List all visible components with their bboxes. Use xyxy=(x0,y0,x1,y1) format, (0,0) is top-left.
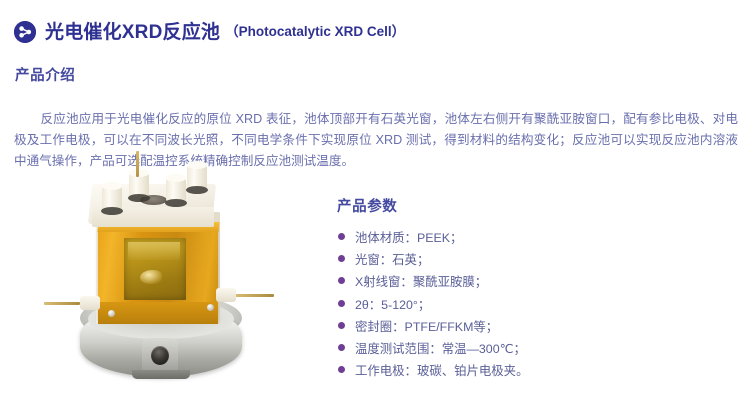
page-title-en: （Photocatalytic XRD Cell） xyxy=(225,25,405,39)
bullet-icon xyxy=(338,344,345,351)
electrode-rod-left xyxy=(44,302,80,305)
list-item-label: 密封圈：PTFE/FFKM等； xyxy=(355,317,498,335)
electrode-post-3 xyxy=(166,178,186,202)
electrode-rod-right xyxy=(234,294,274,297)
frame-screw-right xyxy=(207,304,214,311)
page-title-cn: 光电催化XRD反应池 xyxy=(45,23,220,42)
list-item-label: 池体材质：PEEK； xyxy=(355,228,462,246)
list-item-label: X射线窗：聚酰亚胺膜； xyxy=(355,272,487,290)
bullet-icon xyxy=(338,322,345,329)
list-item: 工作电极：玻碳、铂片电极夹。 xyxy=(338,361,528,383)
list-item-label: 光窗：石英； xyxy=(355,250,429,268)
list-item-label: 工作电极：玻碳、铂片电极夹。 xyxy=(355,361,528,379)
bullet-icon xyxy=(338,233,345,240)
electrode-post-1 xyxy=(102,186,122,210)
electrode-post-2 xyxy=(129,173,149,197)
amber-lower-band xyxy=(98,302,218,324)
port-fitting-left xyxy=(80,296,100,310)
window-highlight xyxy=(128,242,180,260)
parameters-section-heading: 产品参数 xyxy=(337,195,397,216)
parameters-list: 池体材质：PEEK； 光窗：石英； X射线窗：聚酰亚胺膜； 2θ：5-120°；… xyxy=(338,228,528,383)
window-specular xyxy=(140,270,162,284)
frame-screw-left xyxy=(108,310,115,317)
product-image xyxy=(36,162,286,407)
bullet-icon xyxy=(338,366,345,373)
list-item: X射线窗：聚酰亚胺膜； xyxy=(338,272,528,294)
base-foot xyxy=(132,370,190,379)
list-item: 密封圈：PTFE/FFKM等； xyxy=(338,317,528,339)
bullet-icon xyxy=(338,277,345,284)
bullet-icon xyxy=(338,300,345,307)
product-photo-composite xyxy=(36,162,286,407)
intro-section-heading: 产品介绍 xyxy=(15,64,75,85)
list-item: 光窗：石英； xyxy=(338,250,528,272)
gas-needle xyxy=(136,151,139,177)
page-title-row: 光电催化XRD反应池 （Photocatalytic XRD Cell） xyxy=(14,17,405,47)
list-item: 温度测试范围：常温—300℃； xyxy=(338,339,528,361)
list-item: 池体材质：PEEK； xyxy=(338,228,528,250)
port-fitting-right xyxy=(216,288,236,302)
list-item-label: 2θ：5-120°； xyxy=(355,295,430,313)
list-item: 2θ：5-120°； xyxy=(338,295,528,317)
bullet-icon xyxy=(338,255,345,262)
electrode-post-4 xyxy=(187,165,207,189)
share-nodes-icon xyxy=(14,21,36,43)
list-item-label: 温度测试范围：常温—300℃； xyxy=(355,339,526,357)
base-port-hole xyxy=(151,346,169,365)
product-detail-page: 光电催化XRD反应池 （Photocatalytic XRD Cell） 产品介… xyxy=(0,0,752,416)
